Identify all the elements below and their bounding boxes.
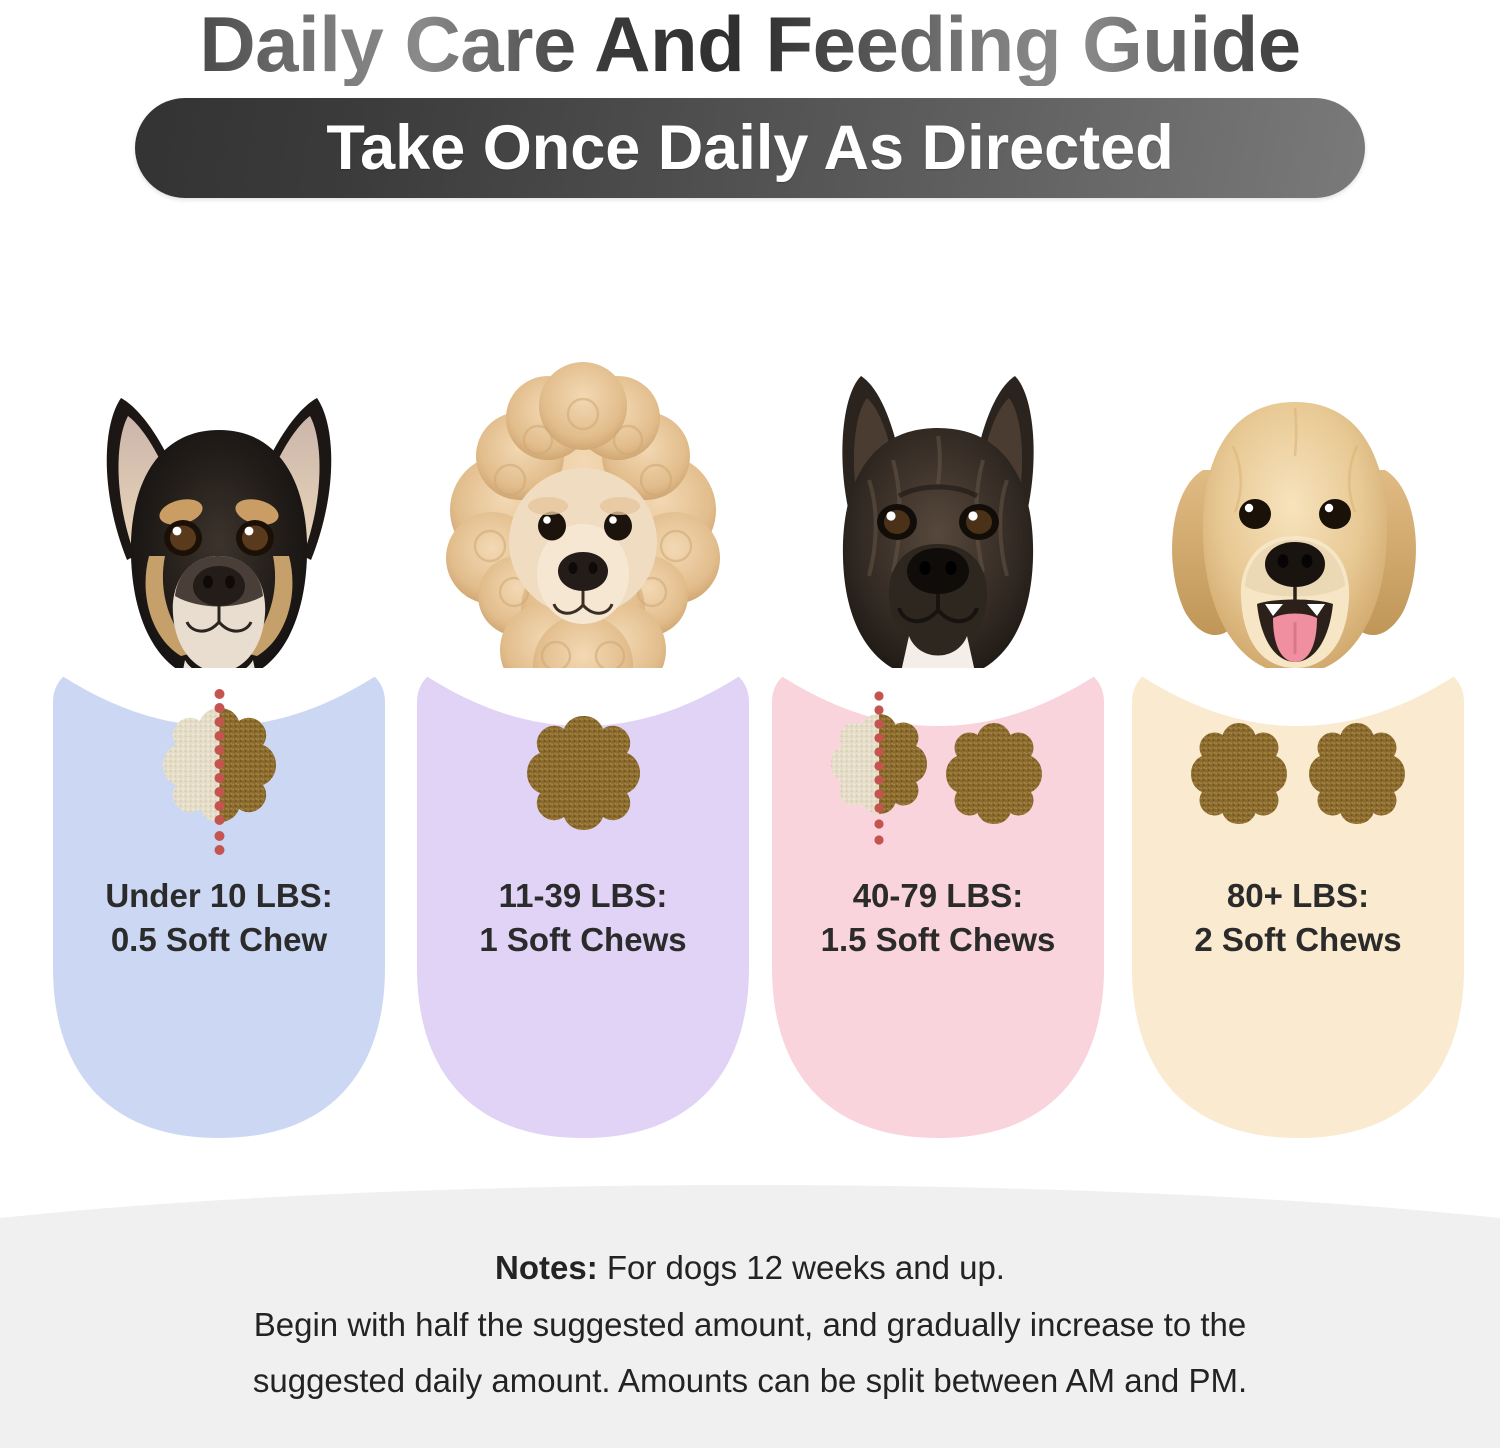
chew-full [1185, 717, 1293, 834]
pocket-content-blue: Under 10 LBS: 0.5 Soft Chew [53, 668, 385, 1148]
dog-photo-french-bulldog [772, 330, 1104, 690]
page-title: Daily Care And Feeding Guide [0, 4, 1500, 86]
weight-range-label: Under 10 LBS: [105, 877, 332, 914]
header: Daily Care And Feeding Guide Take Once D… [0, 0, 1500, 198]
dose-label-group: 11-39 LBS: 1 Soft Chews [479, 874, 686, 962]
dose-label-group: Under 10 LBS: 0.5 Soft Chew [105, 874, 332, 962]
chew-full [521, 708, 646, 843]
chew-half [828, 688, 930, 863]
dog-photo-golden-retriever [1132, 330, 1464, 690]
dose-label-group: 40-79 LBS: 1.5 Soft Chews [821, 874, 1056, 962]
chew-amount-label: 1.5 Soft Chews [821, 918, 1056, 962]
instruction-banner: Take Once Daily As Directed [135, 98, 1365, 198]
chew-illustration-group [152, 680, 287, 870]
weight-range-label: 40-79 LBS: [853, 877, 1024, 914]
banner-label: Take Once Daily As Directed [326, 112, 1173, 184]
notes-label: Notes: [495, 1249, 598, 1286]
chew-amount-label: 0.5 Soft Chew [105, 918, 332, 962]
notes-line-2: Begin with half the suggested amount, an… [254, 1297, 1246, 1354]
dose-label-group: 80+ LBS: 2 Soft Chews [1194, 874, 1401, 962]
dosage-card-11-39: 11-39 LBS: 1 Soft Chews [417, 330, 749, 1160]
notes-line-1: Notes: For dogs 12 weeks and up. [495, 1240, 1005, 1297]
chew-illustration-group [1180, 680, 1416, 870]
dosage-card-80-plus: 80+ LBS: 2 Soft Chews [1132, 330, 1464, 1160]
banner-wrap: Take Once Daily As Directed [0, 98, 1500, 198]
dosage-cards-row: Under 10 LBS: 0.5 Soft Chew [0, 330, 1500, 1160]
dog-photo-poodle [417, 330, 749, 690]
chew-amount-label: 1 Soft Chews [479, 918, 686, 962]
notes-section: Notes: For dogs 12 weeks and up. Begin w… [0, 1180, 1500, 1448]
chew-illustration-group [516, 680, 651, 870]
pocket-content-purple: 11-39 LBS: 1 Soft Chews [417, 668, 749, 1148]
chew-illustration-group [823, 680, 1053, 870]
chew-amount-label: 2 Soft Chews [1194, 918, 1401, 962]
dog-photo-chihuahua [53, 330, 385, 690]
weight-range-label: 11-39 LBS: [499, 877, 668, 914]
notes-line-3: suggested daily amount. Amounts can be s… [253, 1353, 1247, 1410]
pocket-content-pink: 40-79 LBS: 1.5 Soft Chews [772, 668, 1104, 1148]
dosage-card-40-79: 40-79 LBS: 1.5 Soft Chews [772, 330, 1104, 1160]
weight-range-label: 80+ LBS: [1227, 877, 1369, 914]
pocket-content-cream: 80+ LBS: 2 Soft Chews [1132, 668, 1464, 1148]
chew-half [157, 688, 282, 863]
chew-full [940, 717, 1048, 834]
notes-line-1-rest: For dogs 12 weeks and up. [598, 1249, 1005, 1286]
chew-full [1303, 717, 1411, 834]
dosage-card-under-10: Under 10 LBS: 0.5 Soft Chew [53, 330, 385, 1160]
